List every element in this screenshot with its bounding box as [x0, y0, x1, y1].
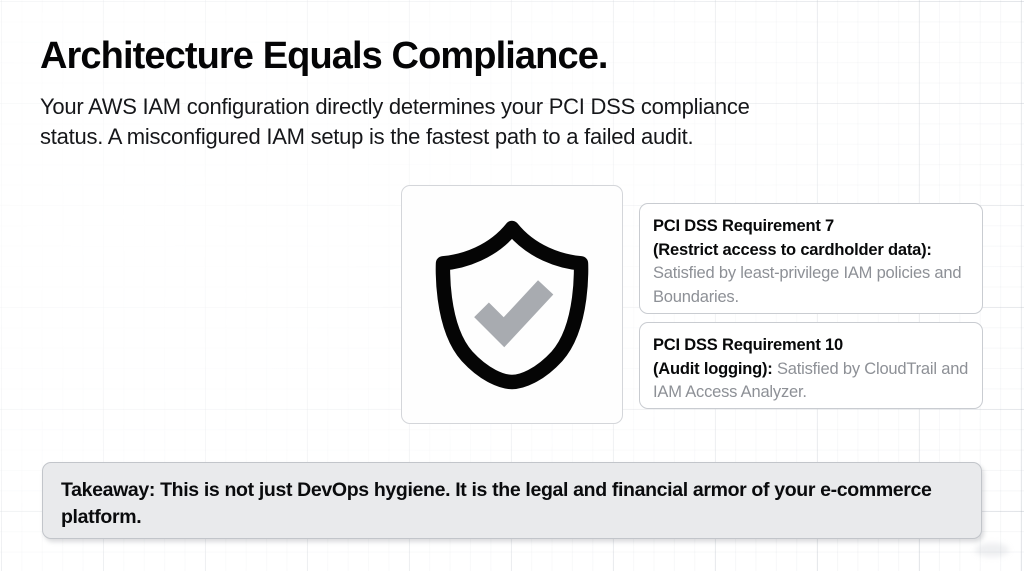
- corner-smudge: [975, 543, 1009, 557]
- requirement-heading: PCI DSS Requirement 7: [653, 217, 834, 235]
- requirement-card: PCI DSS Requirement 7 (Restrict access t…: [639, 203, 983, 314]
- requirement-card: PCI DSS Requirement 10 (Audit logging): …: [639, 322, 983, 409]
- requirement-scope: (Restrict access to cardholder data):: [653, 241, 932, 259]
- requirement-detail: Satisfied by least-privilege IAM policie…: [653, 264, 961, 306]
- requirement-card-text: PCI DSS Requirement 7 (Restrict access t…: [653, 215, 969, 309]
- requirement-card-text: PCI DSS Requirement 10 (Audit logging): …: [653, 334, 969, 405]
- subtitle-text: Your AWS IAM configuration directly dete…: [40, 92, 770, 152]
- shield-panel: [401, 185, 623, 424]
- page-title: Architecture Equals Compliance.: [40, 32, 608, 80]
- requirement-heading: PCI DSS Requirement 10: [653, 336, 843, 354]
- slide-content: Architecture Equals Compliance. Your AWS…: [0, 0, 1024, 571]
- requirement-scope: (Audit logging):: [653, 360, 773, 378]
- takeaway-text: Takeaway: This is not just DevOps hygien…: [61, 477, 963, 531]
- takeaway-box: Takeaway: This is not just DevOps hygien…: [42, 462, 982, 539]
- shield-check-icon: [431, 220, 593, 390]
